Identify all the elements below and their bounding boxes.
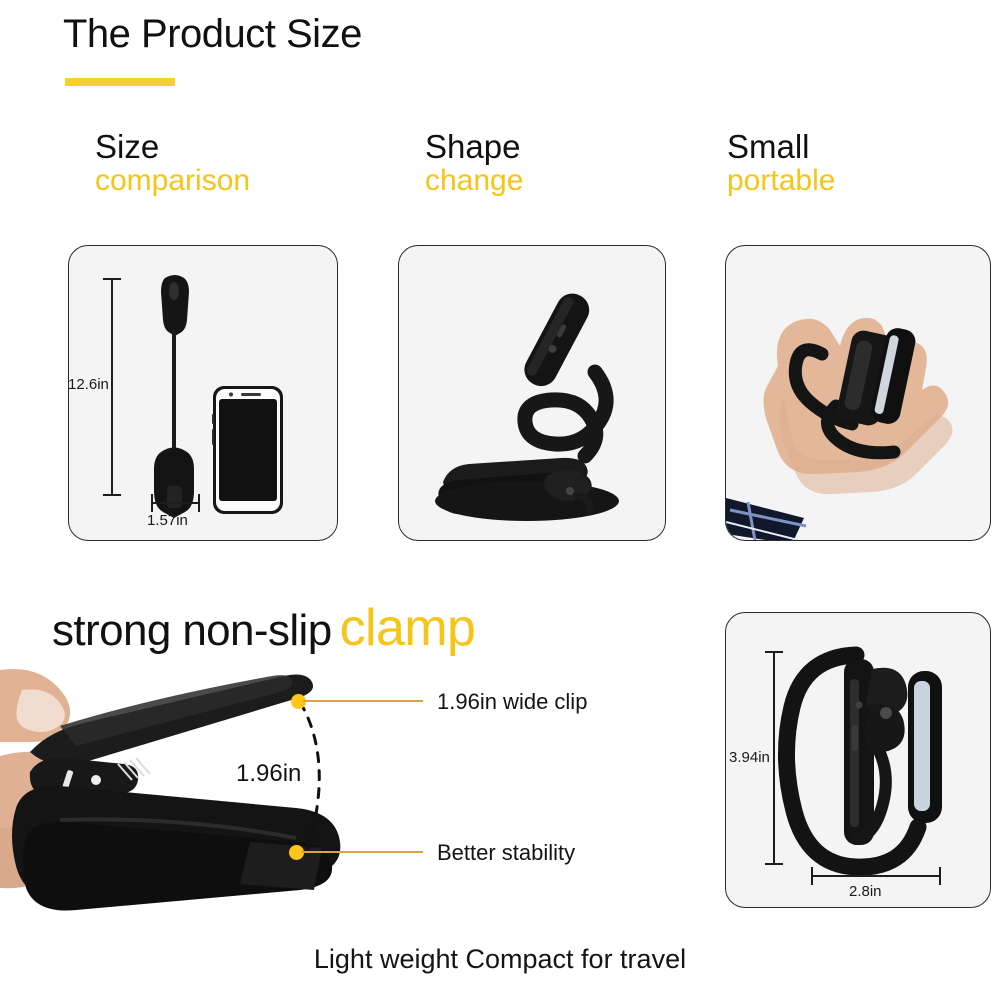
folded-dimensions-card: 3.94in 2.8in (725, 612, 991, 908)
column-heading-line2: portable (727, 166, 835, 197)
column-heading-small: Small portable (727, 130, 835, 196)
column-heading-line1: Shape (425, 130, 523, 164)
folded-width-dimension-line (811, 875, 941, 877)
column-heading-line1: Small (727, 130, 835, 164)
callout-label-wide-clip: 1.96in wide clip (437, 689, 587, 715)
column-heading-shape: Shape change (425, 130, 523, 196)
column-heading-line2: change (425, 166, 523, 197)
height-dimension-line (111, 278, 113, 496)
callout-line-better-stability (301, 851, 423, 853)
shape-change-illustration (399, 246, 665, 540)
folded-height-dimension-label: 3.94in (729, 749, 770, 766)
folded-height-dimension-line (773, 651, 775, 865)
callout-line-wide-clip (303, 700, 423, 702)
footer-caption: Light weight Compact for travel (0, 944, 1000, 975)
column-heading-line2: comparison (95, 166, 250, 197)
clamp-opening-label: 1.96in (236, 760, 301, 788)
width-dimension-line (151, 502, 200, 504)
size-comparison-card: 12.6in 1.57in (68, 245, 338, 541)
column-heading-size: Size comparison (95, 130, 250, 196)
small-portable-card (725, 245, 991, 541)
gooseneck-lamp-graphic (399, 246, 665, 540)
shape-change-card (398, 245, 666, 541)
width-dimension-label: 1.57in (147, 512, 188, 529)
clamp-heading-black: strong non-slip (52, 606, 332, 655)
height-dimension-label: 12.6in (68, 376, 109, 393)
clamp-heading-yellow: clamp (340, 599, 476, 657)
folded-width-dimension-label: 2.8in (849, 883, 882, 900)
title-underline-rule (65, 78, 175, 86)
page-title: The Product Size (63, 12, 362, 57)
hand-holding-folded-lamp-graphic (726, 246, 990, 540)
small-portable-illustration (726, 246, 990, 540)
clamp-section-heading: strong non-slipclamp (52, 598, 475, 658)
callout-label-better-stability: Better stability (437, 840, 575, 866)
column-heading-line1: Size (95, 130, 250, 164)
